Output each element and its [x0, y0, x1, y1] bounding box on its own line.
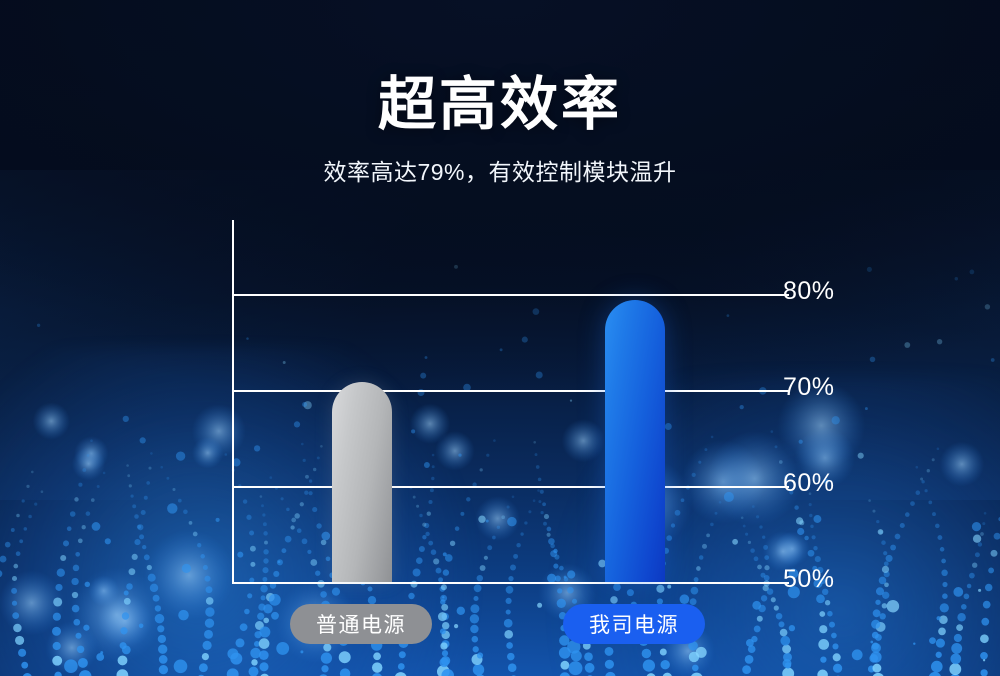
efficiency-infographic: 超高效率 效率高达79%，有效控制模块温升 80%70%60%50% 普通电源我…	[0, 0, 1000, 676]
category-label-ours[interactable]: 我司电源	[563, 604, 705, 644]
bar-ours	[605, 300, 665, 582]
y-axis-label-80: 80%	[783, 277, 835, 306]
page-subtitle: 效率高达79%，有效控制模块温升	[0, 153, 1000, 187]
gridline-50	[232, 582, 775, 584]
y-axis-line	[232, 220, 234, 582]
gridline-60	[232, 486, 775, 488]
y-axis-label-50: 50%	[783, 565, 835, 594]
gridline-80	[232, 294, 775, 296]
category-label-normal[interactable]: 普通电源	[290, 604, 432, 644]
gridline-70	[232, 390, 775, 392]
y-axis-label-70: 70%	[783, 373, 835, 402]
y-axis-label-60: 60%	[783, 469, 835, 498]
page-title: 超高效率	[0, 75, 1000, 136]
bar-normal	[332, 382, 392, 582]
bar-chart	[232, 220, 775, 582]
